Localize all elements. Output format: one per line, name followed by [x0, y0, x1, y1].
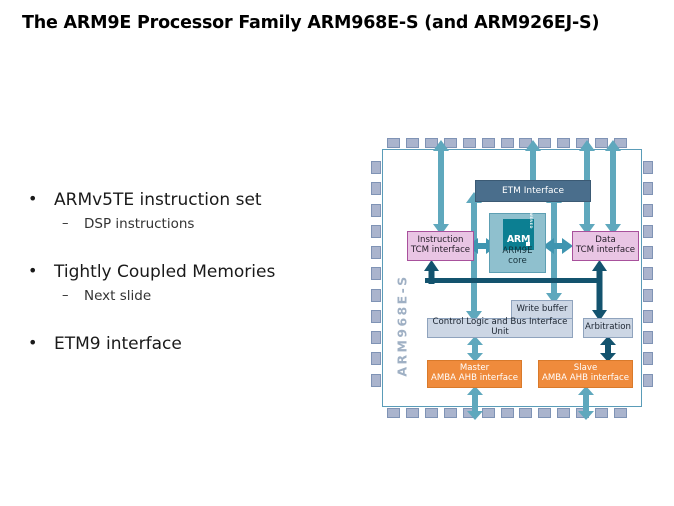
chip-pin-bottom-6 — [482, 408, 495, 418]
chip-pin-left-8 — [371, 310, 381, 323]
bullet-marker: • — [28, 261, 37, 280]
arrow-slave-external — [578, 386, 594, 420]
page-title: The ARM9E Processor Family ARM968E-S (an… — [22, 13, 662, 33]
chip-pin-bottom-2 — [406, 408, 419, 418]
arrow-etm-out — [525, 140, 541, 182]
chip-pin-top-1 — [387, 138, 400, 148]
chip-pin-bottom-3 — [425, 408, 438, 418]
chip-pin-bottom-9 — [538, 408, 551, 418]
chip-pin-right-2 — [643, 182, 653, 195]
arrow-itcm-external — [433, 140, 449, 235]
chip-pin-right-11 — [643, 374, 653, 387]
chip-pin-right-6 — [643, 267, 653, 280]
chip-pin-right-10 — [643, 352, 653, 365]
chip-pin-top-2 — [406, 138, 419, 148]
arm968es-block-diagram: ARM968E-S — [371, 138, 659, 423]
block-arm9e-core[interactable]: POWERED ARM ARM9E core — [489, 213, 546, 273]
chip-pin-top-7 — [501, 138, 514, 148]
chip-pin-left-6 — [371, 267, 381, 280]
chip-pin-top-5 — [463, 138, 476, 148]
block-data-tcm-interface[interactable]: Data TCM interface — [572, 231, 639, 261]
block-etm-interface[interactable]: ETM Interface — [475, 180, 591, 202]
bullet-item-3: • ETM9 interface — [18, 334, 358, 354]
chip-pin-bottom-8 — [519, 408, 532, 418]
block-label: Control Logic and Bus Interface Unit — [428, 318, 572, 338]
bullet-text: Tightly Coupled Memories — [54, 262, 275, 282]
chip-pin-left-3 — [371, 204, 381, 217]
dash-marker: – — [62, 288, 69, 303]
block-label-line2: core — [502, 257, 532, 267]
chip-package-body: ARM968E-S — [382, 149, 642, 407]
arrow-dtcm-external-2 — [605, 140, 621, 235]
chip-pin-left-7 — [371, 289, 381, 302]
bullet-subtext: DSP instructions — [84, 216, 194, 232]
block-slave-amba-ahb-interface[interactable]: Slave AMBA AHB interface — [538, 360, 633, 388]
block-label: Write buffer — [516, 305, 567, 315]
arrow-arbitration-slave — [600, 336, 616, 362]
block-label: ETM Interface — [502, 186, 564, 196]
arrow-control-master — [467, 336, 483, 362]
block-master-amba-ahb-interface[interactable]: Master AMBA AHB interface — [427, 360, 522, 388]
chip-pin-right-7 — [643, 289, 653, 302]
chip-pin-top-10 — [557, 138, 570, 148]
chip-pin-right-1 — [643, 161, 653, 174]
arrow-core-dtcm — [543, 238, 573, 254]
arrow-master-external — [467, 386, 483, 420]
chip-pin-bottom-10 — [557, 408, 570, 418]
chip-pin-right-4 — [643, 225, 653, 238]
block-label-line2: TCM interface — [576, 246, 635, 256]
chip-pin-top-6 — [482, 138, 495, 148]
bullet-group-2: • Tightly Coupled Memories – Next slide — [18, 262, 358, 304]
bullet-marker: • — [28, 189, 37, 208]
block-label-line2: TCM interface — [411, 246, 470, 256]
bullet-subitem-1-1: – DSP instructions — [18, 216, 358, 232]
chip-pin-left-1 — [371, 161, 381, 174]
chip-label: ARM968E-S — [395, 271, 410, 381]
bullet-marker: • — [28, 333, 37, 352]
block-label-line2: AMBA AHB interface — [431, 374, 518, 384]
arm-logo-powered-text: POWERED — [529, 205, 533, 229]
bullet-item-1: • ARMv5TE instruction set — [18, 190, 358, 210]
core-caption: ARM9E core — [502, 247, 532, 267]
chip-pin-bottom-1 — [387, 408, 400, 418]
dash-marker: – — [62, 216, 69, 231]
block-label-line2: AMBA AHB interface — [542, 374, 629, 384]
chip-pin-bottom-7 — [501, 408, 514, 418]
internal-bus-bar — [425, 278, 599, 283]
chip-pin-bottom-13 — [614, 408, 627, 418]
chip-pin-left-4 — [371, 225, 381, 238]
bullet-subtext: Next slide — [84, 288, 151, 304]
chip-pin-left-10 — [371, 352, 381, 365]
bullet-text: ARMv5TE instruction set — [54, 190, 262, 210]
chip-pin-left-11 — [371, 374, 381, 387]
bullet-list: • ARMv5TE instruction set – DSP instruct… — [18, 190, 358, 356]
chip-pin-right-8 — [643, 310, 653, 323]
bullet-item-2: • Tightly Coupled Memories — [18, 262, 358, 282]
block-label: Arbitration — [585, 323, 631, 333]
chip-pin-bottom-12 — [595, 408, 608, 418]
arrow-bus-to-arbitration — [592, 279, 607, 321]
chip-pin-right-3 — [643, 204, 653, 217]
bullet-group-3: • ETM9 interface — [18, 334, 358, 354]
chip-pin-right-5 — [643, 246, 653, 259]
arm-logo-dot-icon — [526, 242, 529, 245]
chip-pin-bottom-4 — [444, 408, 457, 418]
bullet-text: ETM9 interface — [54, 334, 182, 354]
bullet-subitem-2-1: – Next slide — [18, 288, 358, 304]
block-arbitration[interactable]: Arbitration — [583, 318, 633, 338]
block-instruction-tcm-interface[interactable]: Instruction TCM interface — [407, 231, 474, 261]
chip-pin-right-9 — [643, 331, 653, 344]
block-control-logic-bus-interface-unit[interactable]: Control Logic and Bus Interface Unit — [427, 318, 573, 338]
bullet-group-1: • ARMv5TE instruction set – DSP instruct… — [18, 190, 358, 232]
chip-pin-left-5 — [371, 246, 381, 259]
chip-pin-left-9 — [371, 331, 381, 344]
chip-pin-left-2 — [371, 182, 381, 195]
